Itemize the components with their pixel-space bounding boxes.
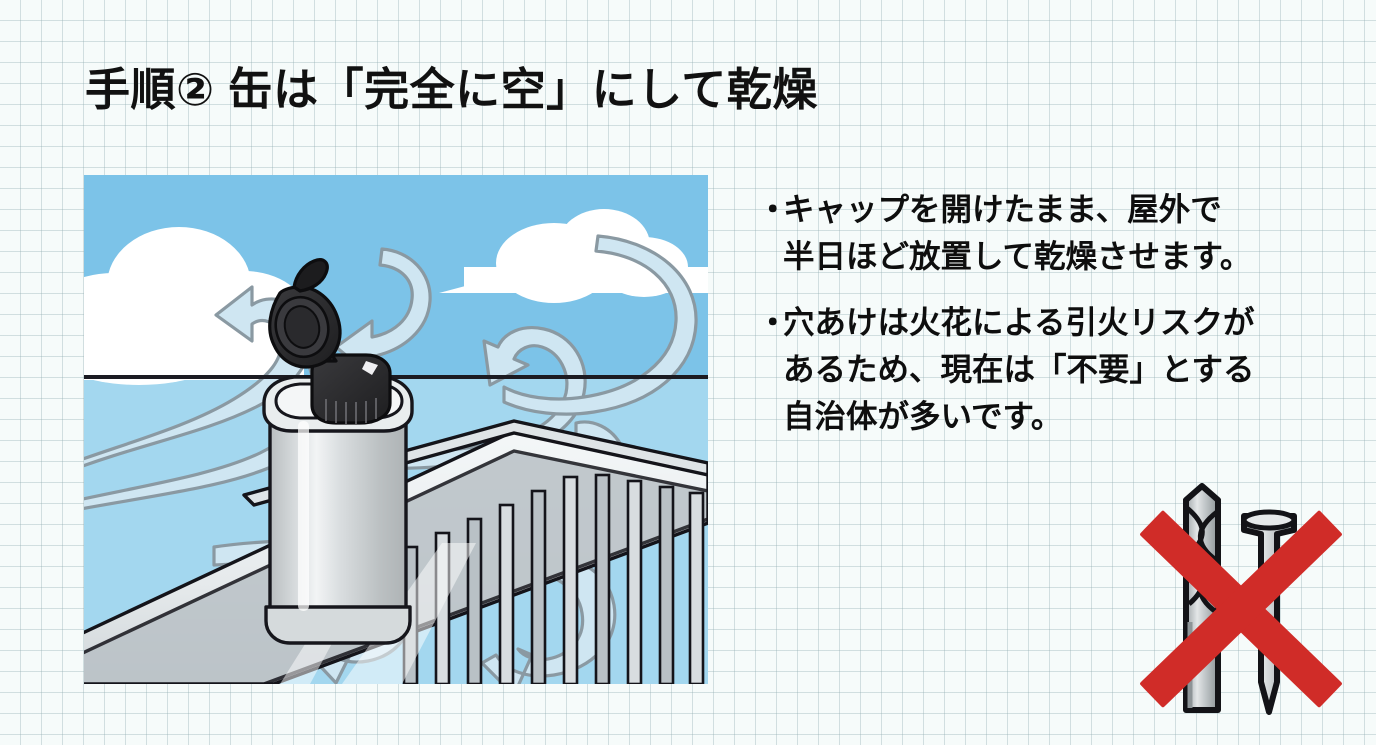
bullet-line: キャップを開けたまま、屋外で xyxy=(783,186,1337,233)
page-title: 手順② 缶は「完全に空」にして乾燥 xyxy=(85,64,818,116)
cap-nozzle-base xyxy=(312,355,390,423)
bullet-text: キャップを開けたまま、屋外で 半日ほど放置して乾燥させます。 xyxy=(783,186,1337,280)
bullet-marker: ・ xyxy=(757,299,783,346)
red-cross-prohibition-mark xyxy=(1139,510,1342,708)
horizon-line xyxy=(84,375,708,379)
spray-can-drying-illustration xyxy=(84,175,708,684)
no-drill-nail-icon xyxy=(1134,472,1349,717)
bullet-text: 穴あけは火花による引火リスクが あるため、現在は「不要」とする 自治体が多いです… xyxy=(783,299,1337,440)
bullet-line: 穴あけは火花による引火リスクが xyxy=(783,299,1337,346)
bullet-line: あるため、現在は「不要」とする xyxy=(783,346,1337,393)
can-highlight xyxy=(298,421,309,611)
illustration-panel xyxy=(84,175,708,684)
slide-canvas: 手順② 缶は「完全に空」にして乾燥 xyxy=(0,0,1376,745)
list-item: ・ 穴あけは火花による引火リスクが あるため、現在は「不要」とする 自治体が多い… xyxy=(757,299,1337,440)
bullet-line: 自治体が多いです。 xyxy=(783,393,1337,440)
no-drilling-prohibition xyxy=(1134,472,1349,717)
bullet-list: ・ キャップを開けたまま、屋外で 半日ほど放置して乾燥させます。 ・ 穴あけは火… xyxy=(757,186,1337,459)
list-item: ・ キャップを開けたまま、屋外で 半日ほど放置して乾燥させます。 xyxy=(757,186,1337,280)
bullet-marker: ・ xyxy=(757,186,783,233)
can-bottom-rim xyxy=(266,607,410,643)
bullet-line: 半日ほど放置して乾燥させます。 xyxy=(783,233,1337,280)
